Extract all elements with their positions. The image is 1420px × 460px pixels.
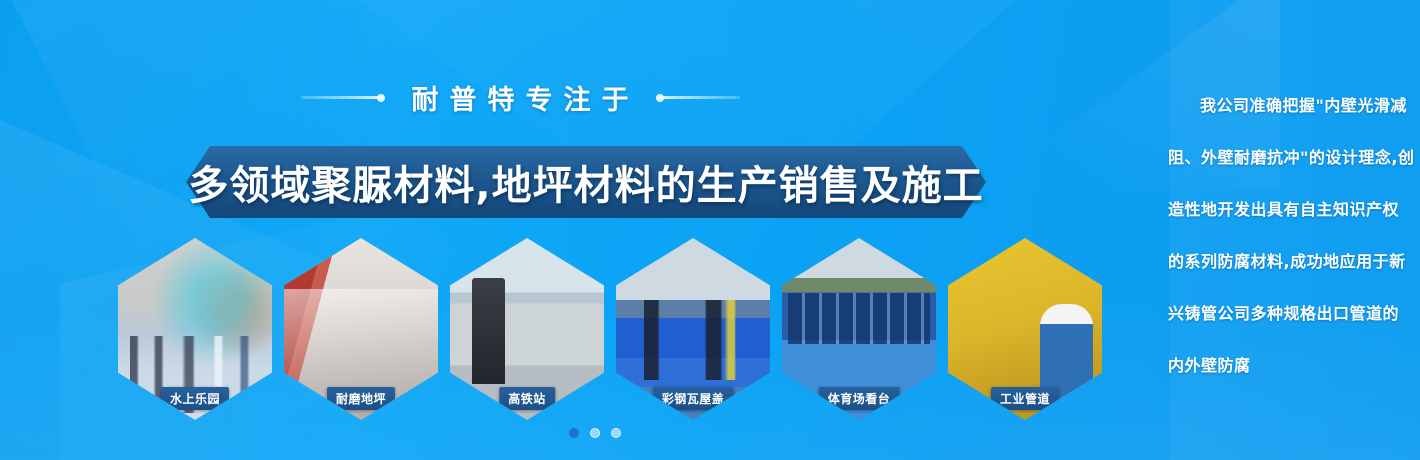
showcase-tile[interactable]: 工业管道 (948, 238, 1102, 420)
tile-caption: 彩钢瓦屋盖 (653, 387, 734, 410)
carousel-dot-3[interactable] (611, 428, 621, 438)
tagline-text: 耐普特专注于 (401, 78, 640, 117)
promo-banner: 耐普特专注于 多领域聚脲材料,地坪材料的生产销售及施工 水上乐园 耐磨地坪 高铁… (0, 0, 1420, 460)
tile-caption: 体育场看台 (819, 387, 900, 410)
tile-caption: 水上乐园 (161, 387, 229, 410)
showcase-tile[interactable]: 彩钢瓦屋盖 (616, 238, 770, 420)
side-description-line: 我公司准确把握"内壁光滑减 (1168, 80, 1406, 132)
side-description-line: 兴铸管公司多种规格出口管道的 (1168, 288, 1406, 340)
tile-caption: 工业管道 (991, 387, 1059, 410)
side-description-line: 内外壁防腐 (1168, 340, 1406, 392)
carousel-dot-1[interactable] (569, 428, 579, 438)
tagline-rule-right-icon (658, 96, 740, 99)
carousel-dot-2[interactable] (590, 428, 600, 438)
tile-caption: 耐磨地坪 (327, 387, 395, 410)
side-description-line: 阻、外壁耐磨抗冲"的设计理念,创 (1168, 132, 1406, 184)
carousel-dots (0, 428, 1190, 438)
tile-caption: 高铁站 (499, 387, 555, 410)
showcase-tile[interactable]: 高铁站 (450, 238, 604, 420)
showcase-tile[interactable]: 水上乐园 (118, 238, 272, 420)
tagline-row: 耐普特专注于 (0, 78, 1040, 117)
showcase-tile[interactable]: 体育场看台 (782, 238, 936, 420)
side-description-line: 造性地开发出具有自主知识产权 (1168, 184, 1406, 236)
headline-text: 多领域聚脲材料,地坪材料的生产销售及施工 (186, 146, 986, 218)
tagline-rule-left-icon (301, 96, 383, 99)
showcase-tile-list: 水上乐园 耐磨地坪 高铁站 彩钢瓦屋盖 体育场看台 工业管道 (118, 238, 1128, 420)
side-description-line: 的系列防腐材料,成功地应用于新 (1168, 236, 1406, 288)
showcase-tile[interactable]: 耐磨地坪 (284, 238, 438, 420)
side-description: 我公司准确把握"内壁光滑减 阻、外壁耐磨抗冲"的设计理念,创 造性地开发出具有自… (1168, 80, 1406, 392)
